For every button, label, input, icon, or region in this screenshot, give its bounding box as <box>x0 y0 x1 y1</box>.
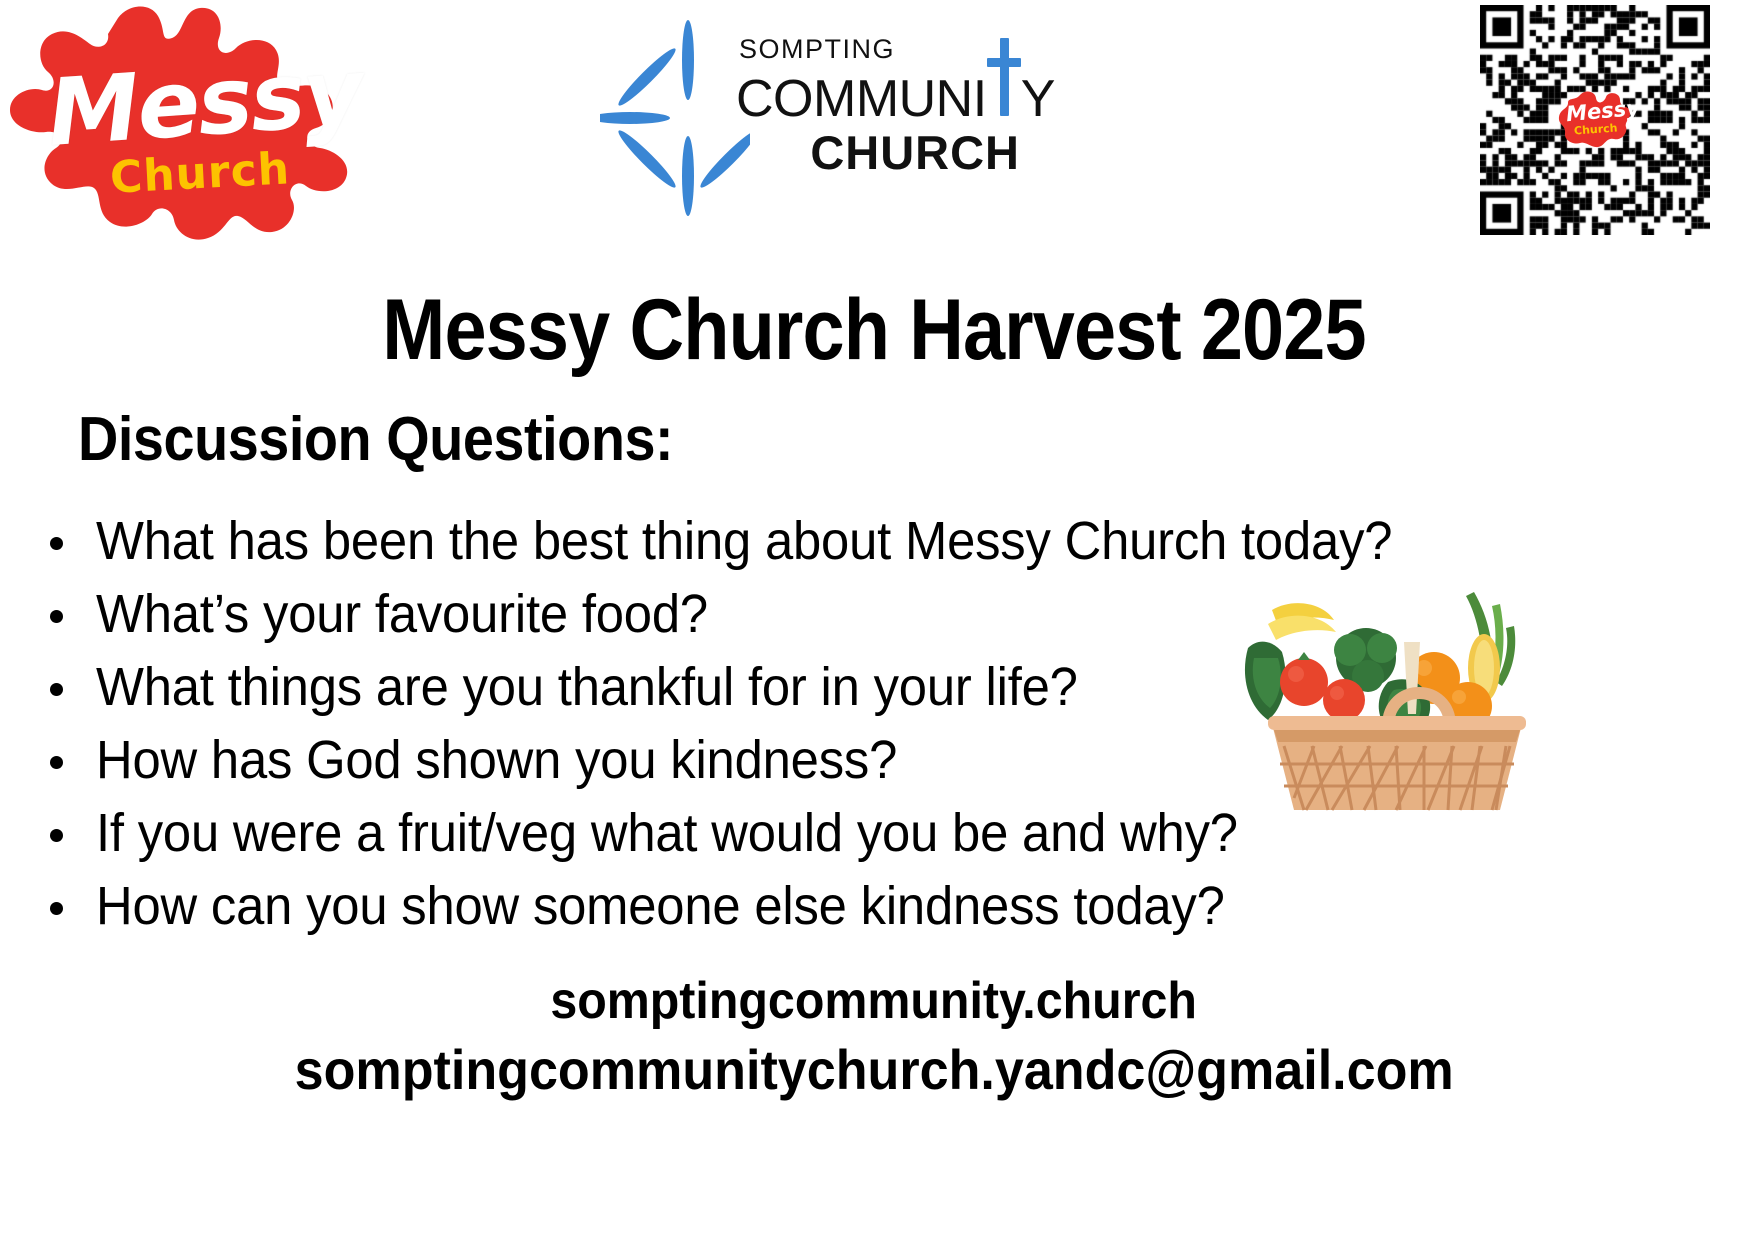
scc-line-church: CHURCH <box>736 127 1026 179</box>
poster-footer: somptingcommunity.church somptingcommuni… <box>0 968 1748 1106</box>
scc-community-suffix: Y <box>1021 70 1055 128</box>
qr-code[interactable]: Messy Church <box>1480 5 1710 235</box>
bullet-icon <box>50 902 63 915</box>
question-text: What things are you thankful for in your… <box>96 651 1078 724</box>
scc-logo-text: SOMPTING COMMUNIY CHURCH <box>736 34 1026 179</box>
scc-community-prefix: COMMUNI <box>736 70 987 128</box>
bullet-icon <box>50 537 63 550</box>
starburst-icon <box>600 18 750 218</box>
harvest-basket-illustration <box>1238 586 1538 826</box>
question-text: If you were a fruit/veg what would you b… <box>96 797 1238 870</box>
messy-logo-word-church: Church <box>109 143 291 203</box>
question-text: What has been the best thing about Messy… <box>96 505 1392 578</box>
footer-email-line: somptingcommunitychurch.yandc@gmail.com <box>0 1034 1748 1106</box>
bullet-icon <box>50 829 63 842</box>
footer-website-line: somptingcommunity.church <box>0 968 1748 1034</box>
bullet-icon <box>50 683 63 696</box>
bullet-icon <box>50 756 63 769</box>
list-item: What has been the best thing about Messy… <box>34 505 1594 578</box>
email-text[interactable]: somptingcommunitychurch.yandc@gmail.com <box>294 1034 1453 1106</box>
scc-line-community: COMMUNIY <box>736 64 1026 127</box>
section-heading: Discussion Questions: <box>78 403 673 477</box>
poster-header: Messy Church SOMPTING COMMUNIY CHURCH <box>0 0 1748 250</box>
bullet-icon <box>50 610 63 623</box>
page-title: Messy Church Harvest 2025 <box>105 282 1643 378</box>
harvest-basket-svg <box>1238 586 1538 826</box>
messy-church-logo: Messy Church <box>0 0 370 245</box>
sompting-community-church-logo: SOMPTING COMMUNIY CHURCH <box>600 18 1020 218</box>
question-text: How can you show someone else kindness t… <box>96 870 1225 943</box>
question-text: How has God shown you kindness? <box>96 724 897 797</box>
cross-icon <box>987 64 1021 116</box>
scc-line-sompting: SOMPTING <box>736 34 1026 64</box>
website-text[interactable]: somptingcommunity.church <box>551 968 1198 1034</box>
question-text: What’s your favourite food? <box>96 578 708 651</box>
list-item: How can you show someone else kindness t… <box>34 870 1594 943</box>
qr-center-badge: Messy Church <box>1558 91 1632 149</box>
